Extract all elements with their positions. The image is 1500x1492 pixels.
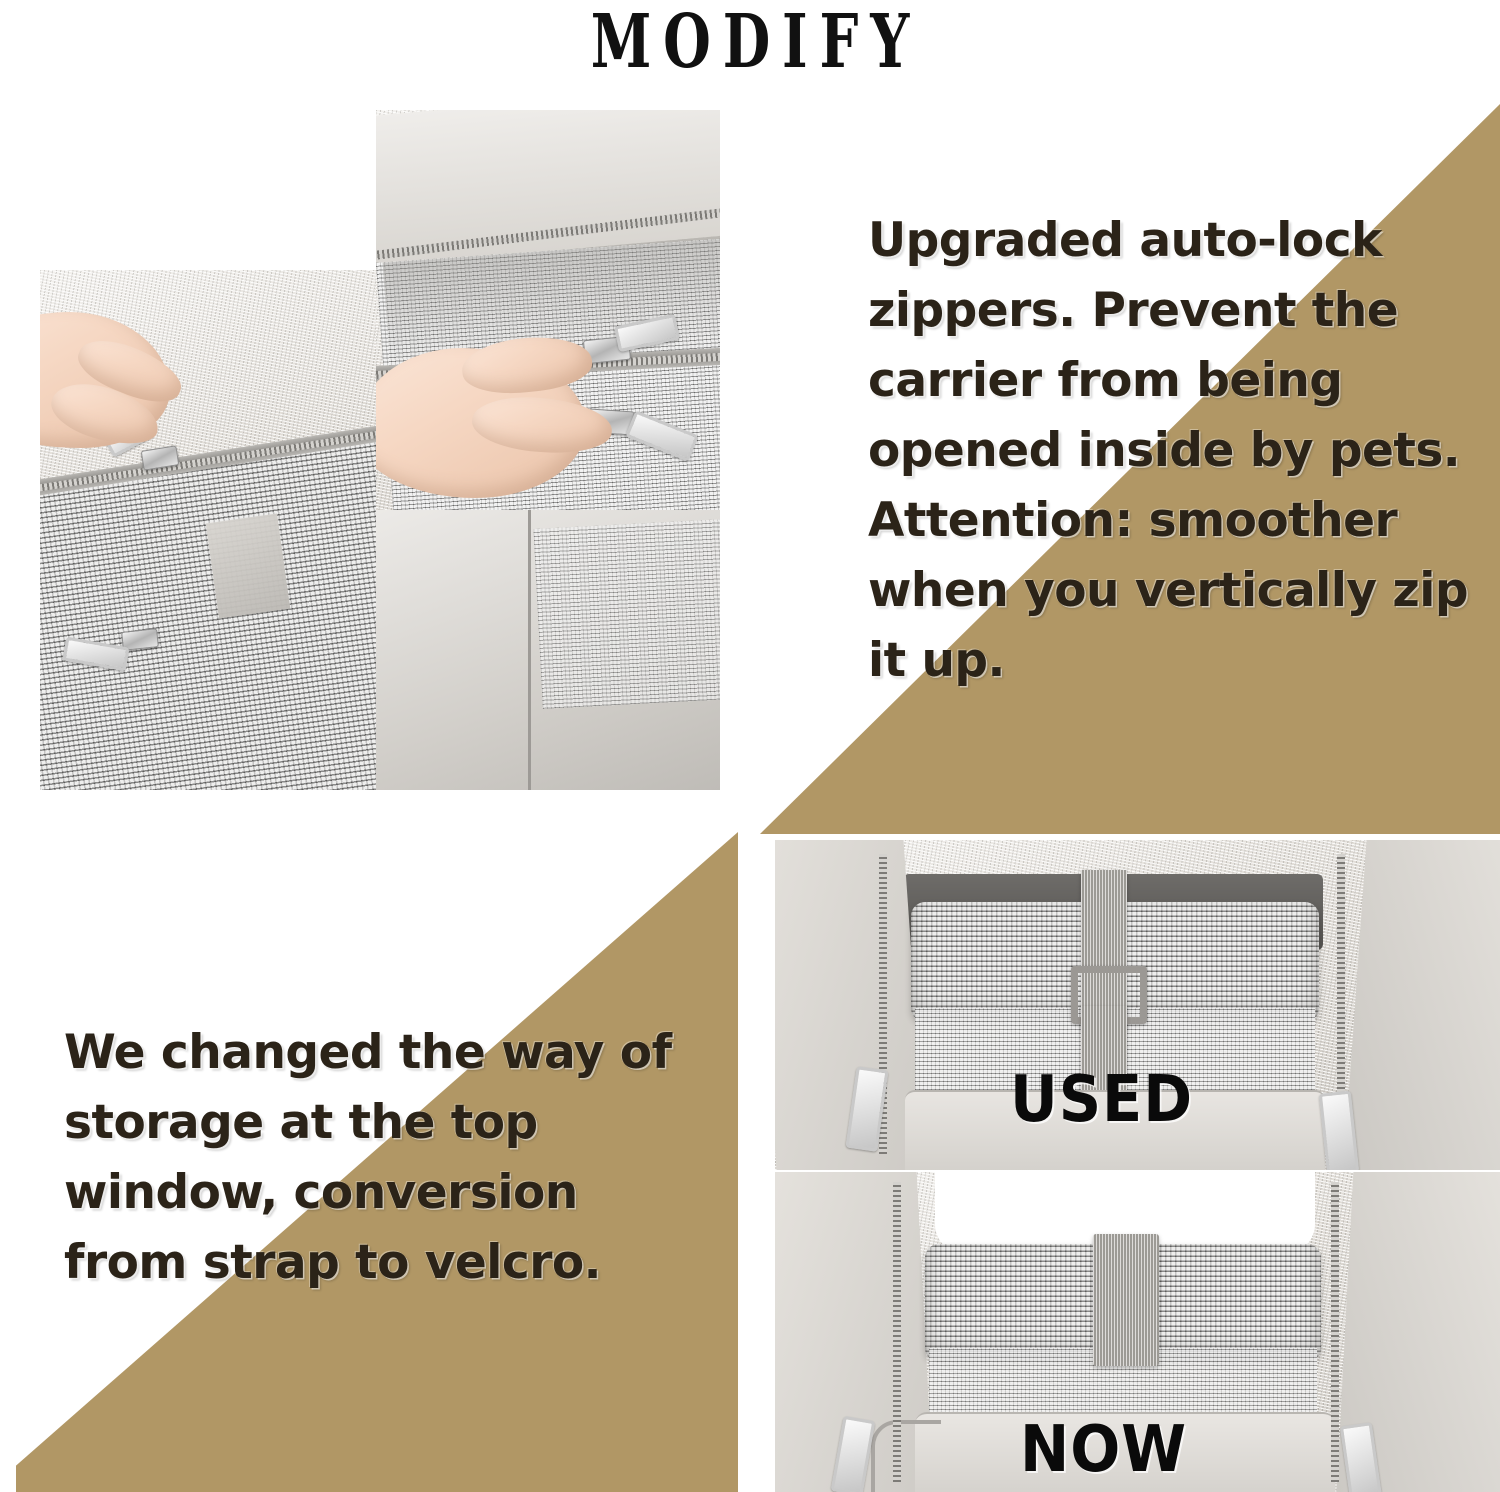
infographic-page: MODIFY [0,0,1500,1492]
zipper-feature-copy: Upgraded auto-lock zippers. Prevent the … [868,206,1478,696]
velcro-band [1093,1234,1159,1366]
photo-hand-gripping-zipper [376,110,720,790]
page-title: MODIFY [195,0,1305,90]
carrier-right-wall [1343,840,1500,1170]
storage-feature-copy: We changed the way of storage at the top… [64,1018,684,1298]
carrier-seam [528,510,531,790]
badge-now: NOW [1020,1418,1187,1482]
right-zipper-teeth [1331,1182,1339,1482]
left-zipper-teeth [893,1182,901,1482]
badge-used: USED [1010,1068,1193,1132]
pocket-zipper-curve [871,1420,941,1492]
photo-top-window-strap-buckle: USED [775,840,1500,1170]
photo-hand-pinching-zipper-pull [40,270,376,790]
mesh-lower-panel [533,519,720,709]
fabric-patch [206,513,291,618]
photo-top-window-velcro: NOW [775,1172,1500,1492]
